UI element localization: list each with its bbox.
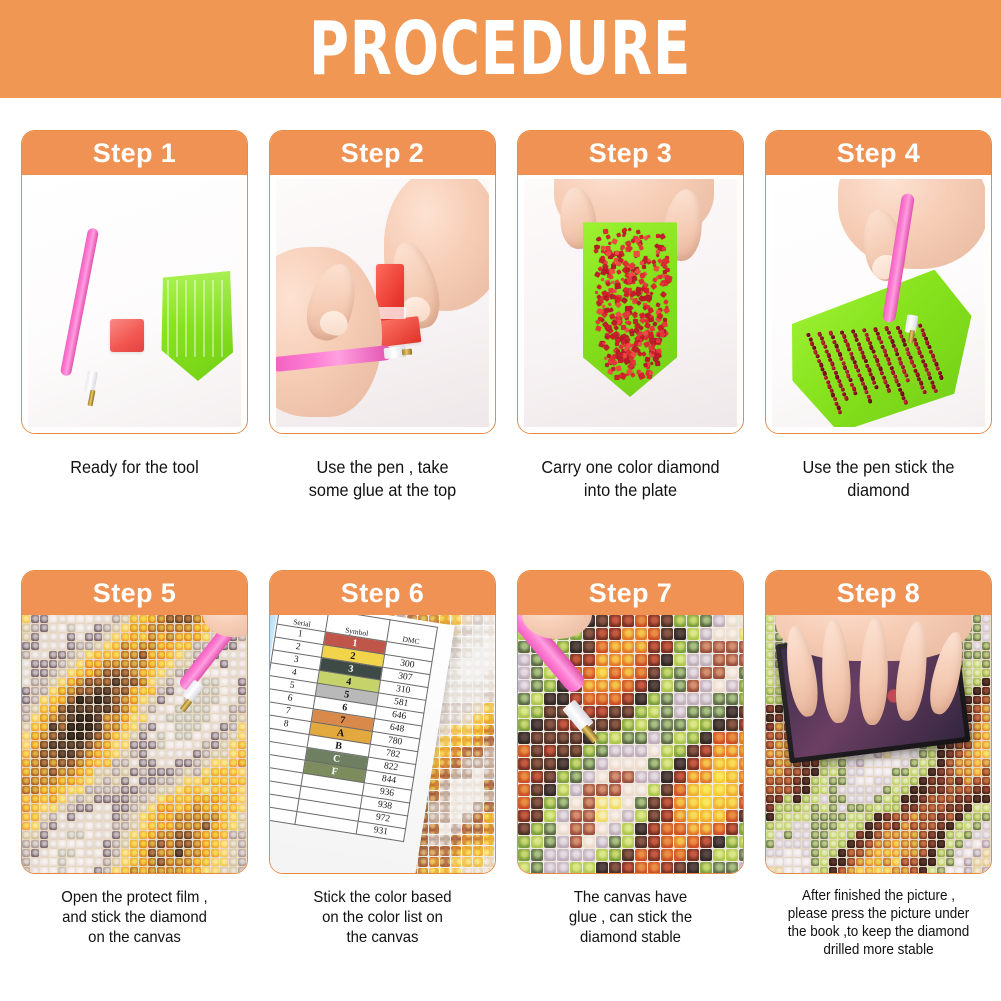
step-badge-5: Step 5 <box>22 571 247 615</box>
step-caption-2: Use the pen , take some glue at the top <box>277 456 488 502</box>
step-card-5[interactable]: Step 5 <box>21 570 248 874</box>
step-badge-label: Step 1 <box>93 140 176 167</box>
step-card-8[interactable]: Step 8 <box>765 570 992 874</box>
step-badge-1: Step 1 <box>22 131 247 175</box>
step-caption-6: Stick the color based on the color list … <box>277 888 488 947</box>
step-image-3 <box>524 179 737 427</box>
step-badge-3: Step 3 <box>518 131 743 175</box>
step-cell-2: Step 2 <box>269 130 496 502</box>
step-badge-8: Step 8 <box>766 571 991 615</box>
step-caption-8: After finished the picture , please pres… <box>773 888 984 960</box>
step-card-2[interactable]: Step 2 <box>269 130 496 434</box>
step-card-7[interactable]: Step 7 <box>517 570 744 874</box>
step-badge-4: Step 4 <box>766 131 991 175</box>
step-image-7 <box>518 615 743 873</box>
step-badge-label: Step 2 <box>341 140 424 167</box>
step-card-3[interactable]: Step 3 <box>517 130 744 434</box>
step-caption-4: Use the pen stick the diamond <box>773 456 984 502</box>
step-image-4 <box>772 179 985 427</box>
step-cell-1: Step 1 <box>21 130 248 479</box>
step-image-5 <box>22 615 247 873</box>
step-cell-8: Step 8 <box>765 570 992 960</box>
step-badge-6: Step 6 <box>270 571 495 615</box>
step-image-8 <box>766 615 991 873</box>
step-badge-label: Step 7 <box>589 580 672 607</box>
step-badge-label: Step 6 <box>341 580 424 607</box>
steps-grid: Step 1 <box>0 98 1001 1001</box>
step-badge-label: Step 4 <box>837 140 920 167</box>
step-cell-4: Step 4 <box>765 130 992 502</box>
step-badge-label: Step 5 <box>93 580 176 607</box>
procedure-infographic: PROCEDURE Step 1 <box>0 0 1001 1001</box>
step-badge-7: Step 7 <box>518 571 743 615</box>
step-image-1 <box>28 179 241 427</box>
step-card-6[interactable]: Step 6 <box>269 570 496 874</box>
step-card-4[interactable]: Step 4 <box>765 130 992 434</box>
step-caption-3: Carry one color diamond into the plate <box>525 456 736 502</box>
step-badge-2: Step 2 <box>270 131 495 175</box>
step-card-1[interactable]: Step 1 <box>21 130 248 434</box>
diamond-rows <box>774 263 985 427</box>
step-cell-3: Step 3 <box>517 130 744 502</box>
diamond-scatter <box>580 217 680 397</box>
step-cell-5: Step 5 O <box>21 570 248 947</box>
step-caption-1: Ready for the tool <box>29 456 240 479</box>
step-cell-7: Step 7 T <box>517 570 744 947</box>
step-cell-6: Step 6 <box>269 570 496 947</box>
step-badge-label: Step 3 <box>589 140 672 167</box>
step-caption-7: The canvas have glue , can stick the dia… <box>525 888 736 947</box>
page-header-banner: PROCEDURE <box>0 0 1001 98</box>
step-image-6: Serial Symbol DMC 1122300333074431055581… <box>270 615 495 873</box>
page-title: PROCEDURE <box>309 12 691 86</box>
step-caption-5: Open the protect film , and stick the di… <box>29 888 240 947</box>
step-image-2 <box>276 179 489 427</box>
step-badge-label: Step 8 <box>837 580 920 607</box>
